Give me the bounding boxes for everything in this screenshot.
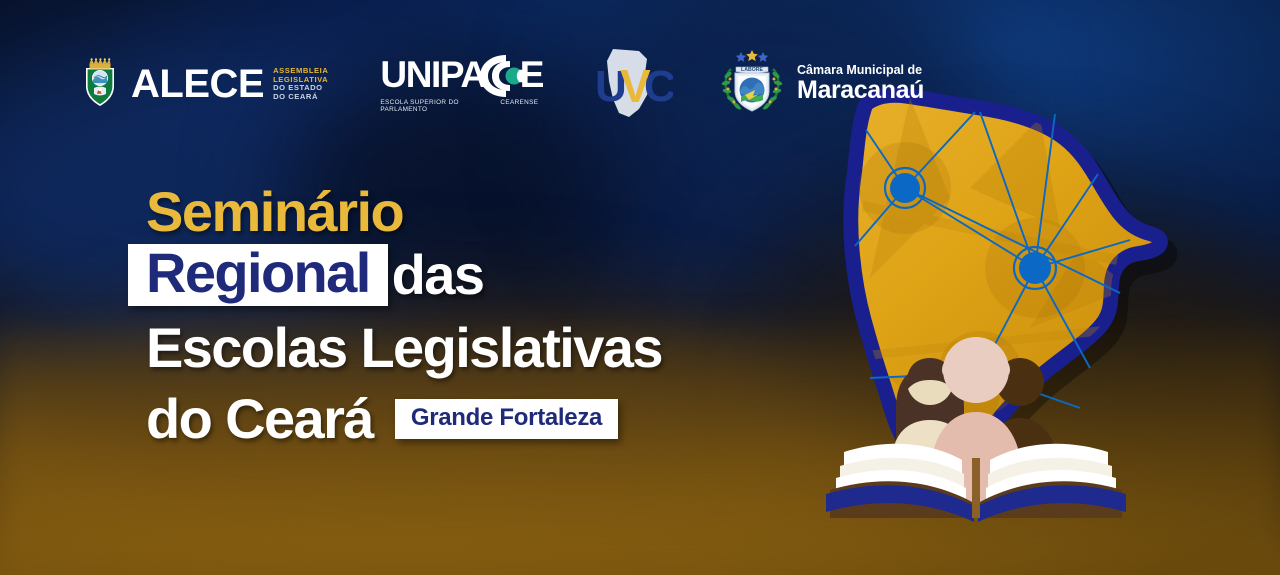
headline-line-2-tail: das — [392, 242, 484, 307]
headline-highlight-regional: Regional — [128, 244, 388, 306]
unipace-swoosh-icon — [476, 51, 528, 107]
event-banner: ALECE ASSEMBLEIA LEGISLATIVA DO ESTADO D… — [0, 0, 1280, 575]
maracanau-coat-of-arms-icon: LABORE — [717, 47, 787, 122]
headline-line-4-row: do Ceará Grande Fortaleza — [146, 386, 662, 451]
svg-text:LABORE: LABORE — [741, 67, 763, 73]
alece-logo[interactable]: ALECE ASSEMBLEIA LEGISLATIVA DO ESTADO D… — [78, 48, 328, 120]
svg-text:C: C — [644, 62, 673, 111]
maracanau-text: Câmara Municipal de Maracanaú — [797, 64, 924, 103]
unipace-logo[interactable]: UNIPA E ESCOLA SUPERIOR DO PARLAMENTO CE… — [380, 48, 543, 120]
headline-block: Seminário Regional das Escolas Legislati… — [146, 186, 662, 451]
ceara-map-with-people-and-book-illustration — [830, 78, 1210, 508]
region-badge: Grande Fortaleza — [395, 399, 618, 439]
partner-logo-bar: ALECE ASSEMBLEIA LEGISLATIVA DO ESTADO D… — [78, 48, 924, 120]
unipace-wordmark-part-1: UNIPA — [380, 56, 485, 93]
camara-municipal-maracanau-logo[interactable]: LABORE Câmara Municipal de Maracanaú — [717, 48, 924, 120]
headline-line-4: do Ceará — [146, 386, 373, 451]
headline-line-1: Seminário — [146, 186, 403, 238]
alece-subtitle: ASSEMBLEIA LEGISLATIVA DO ESTADO DO CEAR… — [273, 67, 328, 101]
ceara-coat-of-arms-icon — [78, 56, 122, 113]
alece-subtitle-line-4: DO CEARÁ — [273, 93, 328, 102]
uvc-logo[interactable]: U V C — [589, 48, 673, 120]
headline-line-3: Escolas Legislativas — [146, 315, 662, 380]
maracanau-line-2: Maracanaú — [797, 78, 924, 104]
alece-wordmark: ALECE — [131, 64, 264, 104]
headline-line-2-row: Regional das — [128, 242, 662, 307]
unipace-wordmark: UNIPA E — [380, 56, 543, 93]
headline-line-1-row: Seminário — [146, 186, 662, 238]
